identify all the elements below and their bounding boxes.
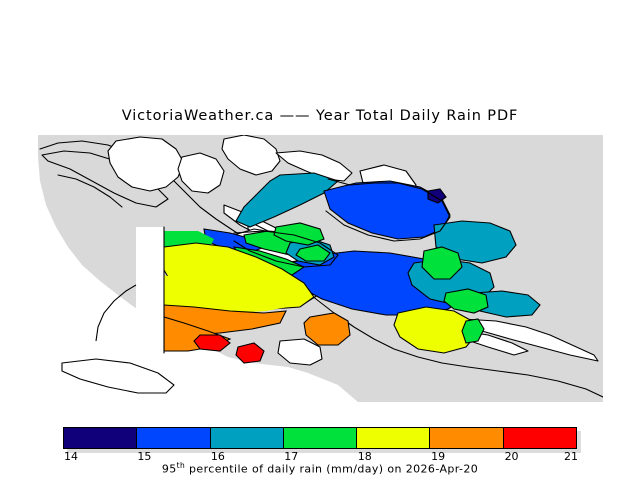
page-title: VictoriaWeather.ca —— Year Total Daily R… <box>0 108 640 124</box>
nodata-island-bottom-1 <box>62 359 174 393</box>
map-panel <box>38 135 603 402</box>
colorbar-caption: 95th percentile of daily rain (mm/day) o… <box>0 461 640 476</box>
colorbar-segment-15-16 <box>137 428 210 448</box>
colorbar-segment-18-19 <box>357 428 430 448</box>
caption-prefix: 95 <box>162 463 177 476</box>
colorbar-segments <box>63 427 577 449</box>
colorbar-segment-16-17 <box>211 428 284 448</box>
caption-superscript: th <box>177 461 186 470</box>
map-canvas <box>38 135 603 402</box>
colorbar <box>63 427 577 449</box>
colorbar-segment-20-21 <box>504 428 576 448</box>
nodata-west-strip <box>136 227 164 353</box>
colorbar-segment-17-18 <box>284 428 357 448</box>
caption-rest: percentile of daily rain (mm/day) on 202… <box>185 463 478 476</box>
colorbar-segment-14-15 <box>64 428 137 448</box>
colorbar-segment-19-20 <box>430 428 503 448</box>
